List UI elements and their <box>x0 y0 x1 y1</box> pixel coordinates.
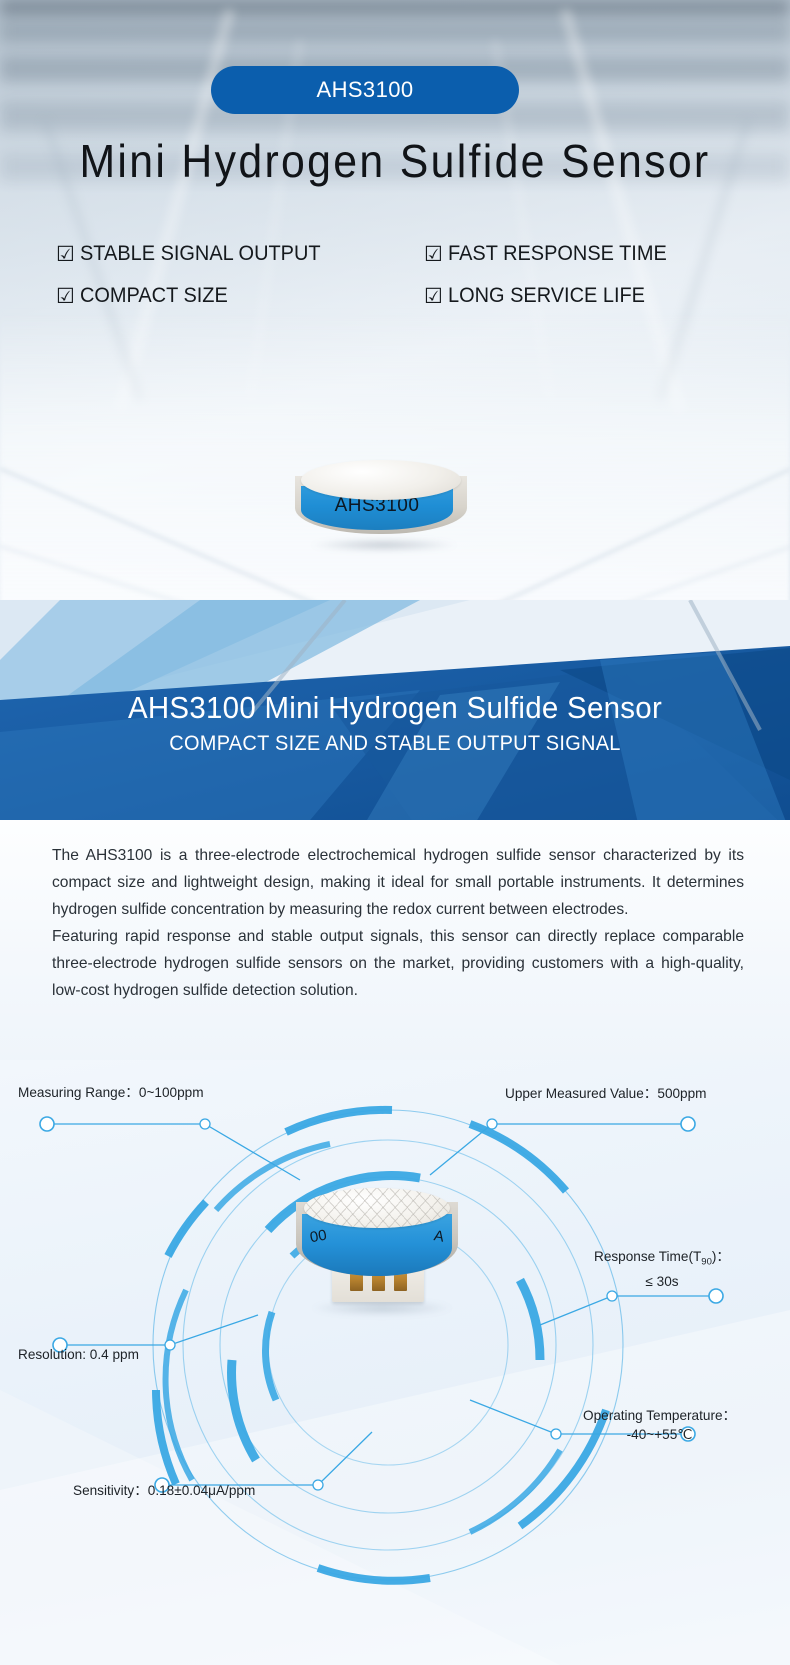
spec-response-time-subscript: 90 <box>701 1257 712 1268</box>
spec-response-time: Response Time(T90)： ≤ 30s <box>594 1247 730 1291</box>
spec-response-time-value: ≤ 30s <box>594 1272 730 1291</box>
feature-list: ☑ STABLE SIGNAL OUTPUT ☑ FAST RESPONSE T… <box>56 242 716 308</box>
feature-label: STABLE SIGNAL OUTPUT <box>80 242 321 266</box>
spec-operating-temperature-label: Operating Temperature： <box>583 1406 736 1425</box>
spec-sensor-membrane-top <box>304 1188 450 1228</box>
checkbox-checked-icon: ☑ <box>56 244 75 265</box>
banner-subtitle: COMPACT SIZE AND STABLE OUTPUT SIGNAL <box>20 732 771 756</box>
spec-response-time-label: Response Time(T90)： <box>594 1247 730 1272</box>
banner-text-block: AHS3100 Mini Hydrogen Sulfide Sensor COM… <box>0 690 790 756</box>
spec-resolution: Resolution: 0.4 ppm <box>18 1345 139 1364</box>
product-code-badge-label: AHS3100 <box>317 77 414 103</box>
description-paragraph: Featuring rapid response and stable outp… <box>52 923 744 1004</box>
description-paragraph: The AHS3100 is a three-electrode electro… <box>52 842 744 923</box>
spec-sensor-illustration: 00 A <box>292 1188 482 1338</box>
description-section: The AHS3100 is a three-electrode electro… <box>0 820 790 1080</box>
spec-operating-temperature: Operating Temperature： -40~+55℃ <box>583 1406 736 1444</box>
spec-operating-temperature-value: -40~+55℃ <box>583 1425 736 1444</box>
banner-title: AHS3100 Mini Hydrogen Sulfide Sensor <box>20 690 771 726</box>
feature-label: LONG SERVICE LIFE <box>448 284 645 308</box>
description-text: The AHS3100 is a three-electrode electro… <box>52 842 744 1004</box>
spec-sensitivity: Sensitivity：0.18±0.04μA/ppm <box>73 1481 255 1500</box>
checkbox-checked-icon: ☑ <box>424 244 443 265</box>
spec-upper-measured-value: Upper Measured Value：500ppm <box>505 1084 707 1103</box>
spec-sensor-label-right: A <box>433 1227 446 1245</box>
spec-measuring-range: Measuring Range：0~100ppm <box>18 1083 204 1102</box>
product-photo: AHS3100 <box>295 460 475 552</box>
feature-label: FAST RESPONSE TIME <box>448 242 667 266</box>
checkbox-checked-icon: ☑ <box>424 286 443 307</box>
feature-label: COMPACT SIZE <box>80 284 228 308</box>
product-code-badge[interactable]: AHS3100 <box>211 66 519 114</box>
hero-section: AHS3100 Mini Hydrogen Sulfide Sensor ☑ S… <box>0 0 790 640</box>
feature-item: ☑ LONG SERVICE LIFE <box>424 284 716 308</box>
spec-resolution-text: Resolution: 0.4 ppm <box>18 1347 139 1362</box>
spec-sensor-label-left: 00 <box>309 1227 328 1247</box>
spec-upper-measured-value-text: Upper Measured Value：500ppm <box>505 1086 707 1101</box>
spec-response-time-label-end: )： <box>712 1249 730 1264</box>
section-banner: AHS3100 Mini Hydrogen Sulfide Sensor COM… <box>0 600 790 832</box>
page-title: Mini Hydrogen Sulfide Sensor <box>28 134 763 188</box>
spec-sensitivity-text: Sensitivity：0.18±0.04μA/ppm <box>73 1483 255 1498</box>
product-infographic-page: AHS3100 Mini Hydrogen Sulfide Sensor ☑ S… <box>0 0 790 1665</box>
spec-response-time-label-start: Response Time(T <box>594 1249 701 1264</box>
spec-sensor-shadow <box>312 1300 452 1316</box>
product-shadow <box>309 538 459 552</box>
feature-item: ☑ COMPACT SIZE <box>56 284 424 308</box>
checkbox-checked-icon: ☑ <box>56 286 75 307</box>
product-membrane-top <box>301 460 461 500</box>
spec-measuring-range-text: Measuring Range：0~100ppm <box>18 1085 204 1100</box>
feature-item: ☑ STABLE SIGNAL OUTPUT <box>56 242 424 266</box>
feature-item: ☑ FAST RESPONSE TIME <box>424 242 716 266</box>
